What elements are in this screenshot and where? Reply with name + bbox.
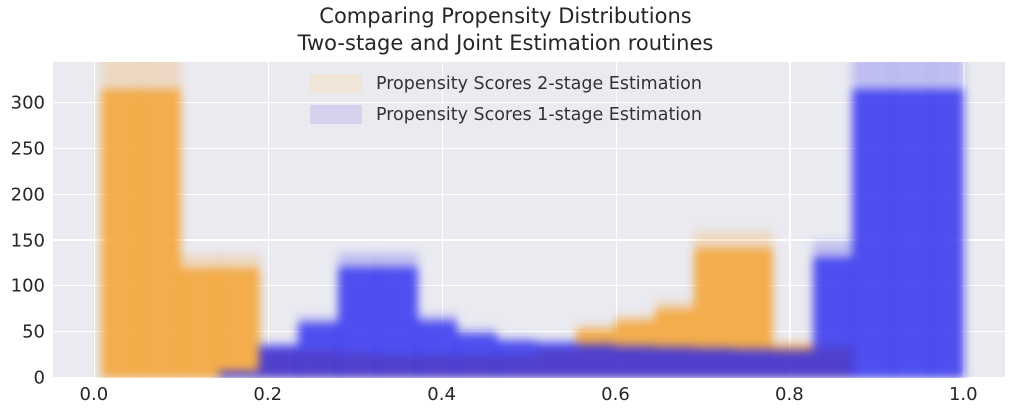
y-tick-label-300: 300 xyxy=(1,93,45,114)
y-tick-label-250: 250 xyxy=(1,139,45,160)
x-tick-label-0.0: 0.0 xyxy=(80,384,109,405)
y-tick-label-50: 50 xyxy=(1,322,45,343)
y-tick-label-0: 0 xyxy=(1,368,45,389)
legend-item-2-stage: Propensity Scores 2-stage Estimation xyxy=(310,68,702,99)
x-tick-label-0.6: 0.6 xyxy=(601,384,630,405)
legend-item-1-stage: Propensity Scores 1-stage Estimation xyxy=(310,99,702,130)
tick-labels: 0501001502002503000.00.20.40.60.81.0 xyxy=(0,0,1011,411)
x-tick-label-0.8: 0.8 xyxy=(775,384,804,405)
legend-swatch-1-stage xyxy=(310,105,362,124)
y-tick-label-100: 100 xyxy=(1,276,45,297)
x-tick-label-1.0: 1.0 xyxy=(949,384,978,405)
legend: Propensity Scores 2-stage Estimation Pro… xyxy=(310,68,702,130)
legend-label-2-stage: Propensity Scores 2-stage Estimation xyxy=(376,74,702,94)
x-tick-label-0.2: 0.2 xyxy=(253,384,282,405)
y-tick-label-150: 150 xyxy=(1,230,45,251)
figure: Comparing Propensity Distributions Two-s… xyxy=(0,0,1011,411)
x-tick-label-0.4: 0.4 xyxy=(427,384,456,405)
y-tick-label-200: 200 xyxy=(1,184,45,205)
legend-label-1-stage: Propensity Scores 1-stage Estimation xyxy=(376,105,702,125)
legend-swatch-2-stage xyxy=(310,74,362,93)
